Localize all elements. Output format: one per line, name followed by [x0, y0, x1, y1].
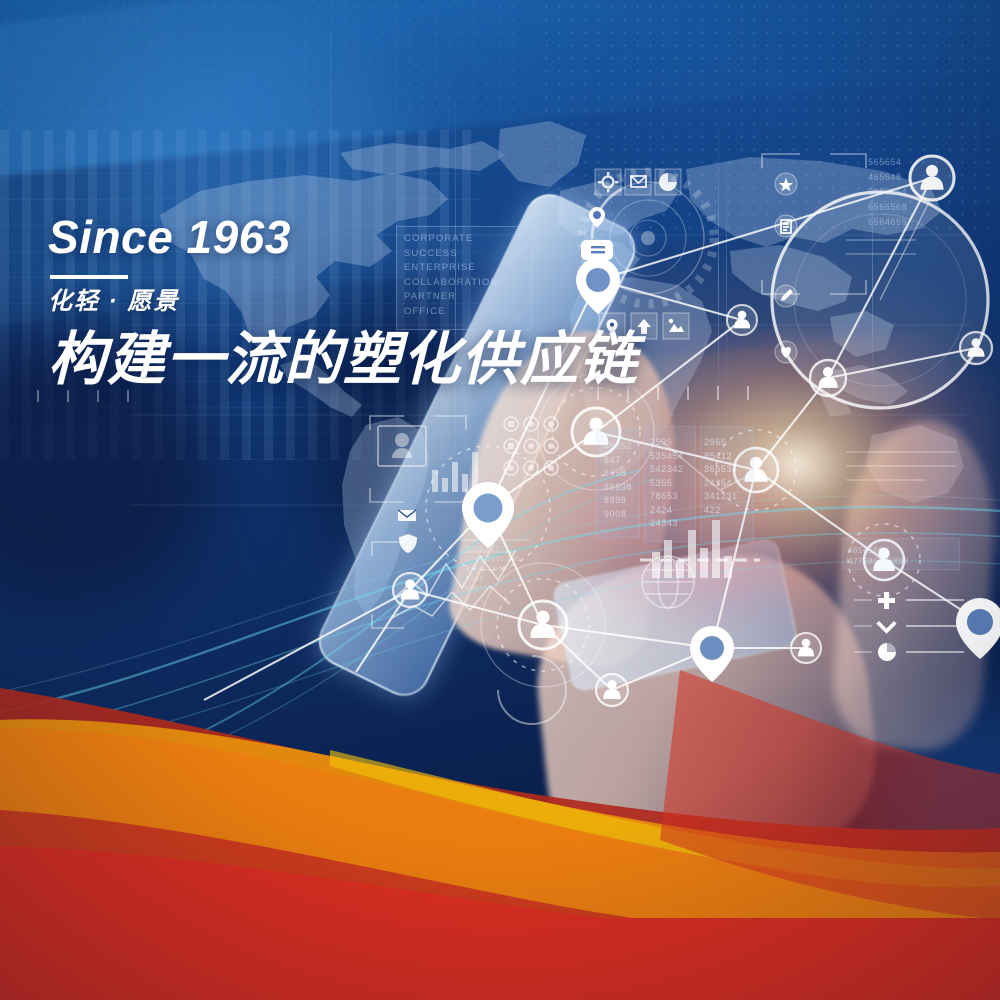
data-value: 85412	[704, 450, 738, 464]
data-value: 5645	[466, 575, 521, 585]
data-value: 89698	[604, 481, 632, 495]
data-column-right: 2965 85412 365534 24354 341231 422	[704, 436, 738, 517]
data-value: 2424	[650, 504, 684, 518]
data-value: 6566568	[868, 200, 907, 215]
data-value: 9008	[604, 508, 632, 522]
data-value: 477686756898	[848, 556, 909, 567]
data-column-left: 45652 547 8998 89698 8998 9008	[604, 440, 632, 521]
data-value: 542342	[650, 463, 684, 477]
data-value: 6564659	[868, 215, 907, 230]
data-value: 78653	[650, 490, 684, 504]
data-panel-values: 4656566 477686756898	[848, 545, 909, 567]
data-value: 4 78s6 846	[466, 565, 521, 575]
data-value: 8998	[604, 467, 632, 481]
data-value: 8998	[604, 494, 632, 508]
wave-base-fill	[0, 918, 1000, 1000]
headline-copy-block: Since 1963 化轻 · 愿景 构建一流的塑化供应链	[48, 214, 638, 393]
data-value: 341231	[704, 490, 738, 504]
data-small-values: 4551 5856 1568 5565 645 4 78s6 846 5645 …	[466, 545, 521, 595]
data-value: 565557	[466, 585, 521, 595]
bottom-wave-decoration	[0, 670, 1000, 1000]
data-value: 24343	[650, 517, 684, 531]
data-value: 5956564	[868, 185, 907, 200]
data-column-mid: 3535 535454 542342 5355 78653 2424 24343	[650, 436, 684, 531]
data-value: 3535	[650, 436, 684, 450]
data-value: 2965	[704, 436, 738, 450]
data-value: 4656566	[848, 545, 909, 556]
data-value: 5355	[650, 477, 684, 491]
data-value: 365534	[704, 463, 738, 477]
data-value: 45652	[604, 440, 632, 454]
data-value: 465648	[868, 170, 907, 185]
data-value: 535454	[650, 450, 684, 464]
data-value: 565654	[868, 155, 907, 170]
data-value: 1568 5565 645	[466, 555, 521, 565]
data-value: 24354	[704, 477, 738, 491]
data-column-upper-right: 565654 465648 5956564 6566568 6564659	[868, 155, 907, 230]
eyebrow-text: Since 1963	[48, 214, 638, 261]
marketing-banner: CORPORATE SUCCESS ENTERPRISE COLLABORATI…	[0, 0, 1000, 1000]
page-title: 构建一流的塑化供应链	[48, 327, 638, 393]
divider-rule	[50, 275, 128, 279]
data-value: 547	[604, 454, 632, 468]
data-value: 4551 5856	[466, 545, 521, 555]
subtitle-text: 化轻 · 愿景	[48, 287, 638, 317]
data-value: 422	[704, 504, 738, 518]
